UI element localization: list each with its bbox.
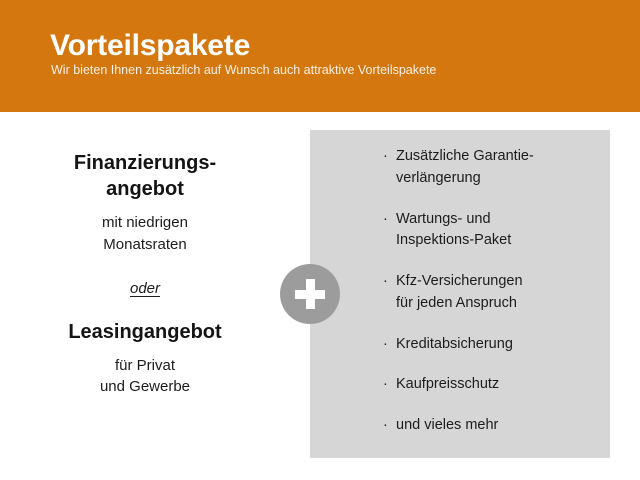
page-title: Vorteilspakete [50, 29, 250, 62]
leasing-subtext-line1: für Privat [115, 357, 175, 374]
header-band: Vorteilspakete Wir bieten Ihnen zusätzli… [0, 0, 640, 112]
benefit-line1: Zusätzliche Garantie- [396, 148, 534, 164]
financing-offer-block: Finanzierungs- angebot mit niedrigen Mon… [20, 150, 270, 256]
list-item: · Kreditabsicherung [382, 334, 597, 356]
slide-root: Vorteilspakete Wir bieten Ihnen zusätzli… [0, 0, 640, 480]
bullet-icon: · [383, 415, 388, 437]
bullet-icon: · [383, 146, 388, 168]
financing-subtext-line1: mit niedrigen [102, 214, 188, 231]
list-item: · Kaufpreisschutz [382, 374, 597, 396]
leasing-offer-subtext: für Privat und Gewerbe [20, 355, 270, 399]
plus-icon-vertical-bar [306, 279, 315, 309]
benefits-list: · Zusätzliche Garantie- verlängerung · W… [382, 146, 597, 437]
financing-subtext-line2: Monatsraten [103, 236, 186, 253]
financing-offer-subtext: mit niedrigen Monatsraten [20, 212, 270, 256]
bullet-icon: · [383, 334, 388, 356]
benefit-line1: Kaufpreisschutz [396, 376, 499, 392]
bullet-icon: · [383, 374, 388, 396]
list-item: · und vieles mehr [382, 415, 597, 437]
benefit-line1: Kfz-Versicherungen [396, 273, 523, 289]
benefit-line2: Inspektions-Paket [396, 232, 511, 248]
leasing-subtext-line2: und Gewerbe [100, 378, 190, 395]
benefit-line2: verlängerung [396, 170, 481, 186]
leasing-offer-block: Leasingangebot für Privat und Gewerbe [20, 319, 270, 399]
list-item: · Kfz-Versicherungen für jeden Anspruch [382, 271, 597, 315]
financing-heading-line1: Finanzierungs- [74, 152, 216, 174]
offer-connector-wrapper: oder [20, 256, 270, 319]
list-item: · Zusätzliche Garantie- verlängerung [382, 146, 597, 190]
benefit-line1: und vieles mehr [396, 417, 498, 433]
list-item: · Wartungs- und Inspektions-Paket [382, 209, 597, 253]
financing-offer-heading: Finanzierungs- angebot [20, 150, 270, 202]
plus-icon [280, 264, 340, 324]
offer-connector-oder: oder [130, 280, 160, 297]
page-subtitle: Wir bieten Ihnen zusätzlich auf Wunsch a… [51, 63, 436, 78]
bullet-icon: · [383, 271, 388, 293]
financing-heading-line2: angebot [106, 178, 184, 200]
bullet-icon: · [383, 209, 388, 231]
offers-column: Finanzierungs- angebot mit niedrigen Mon… [20, 150, 270, 398]
benefit-line1: Wartungs- und [396, 211, 491, 227]
benefit-line2: für jeden Anspruch [396, 295, 517, 311]
benefit-line1: Kreditabsicherung [396, 336, 513, 352]
leasing-offer-heading: Leasingangebot [20, 319, 270, 345]
